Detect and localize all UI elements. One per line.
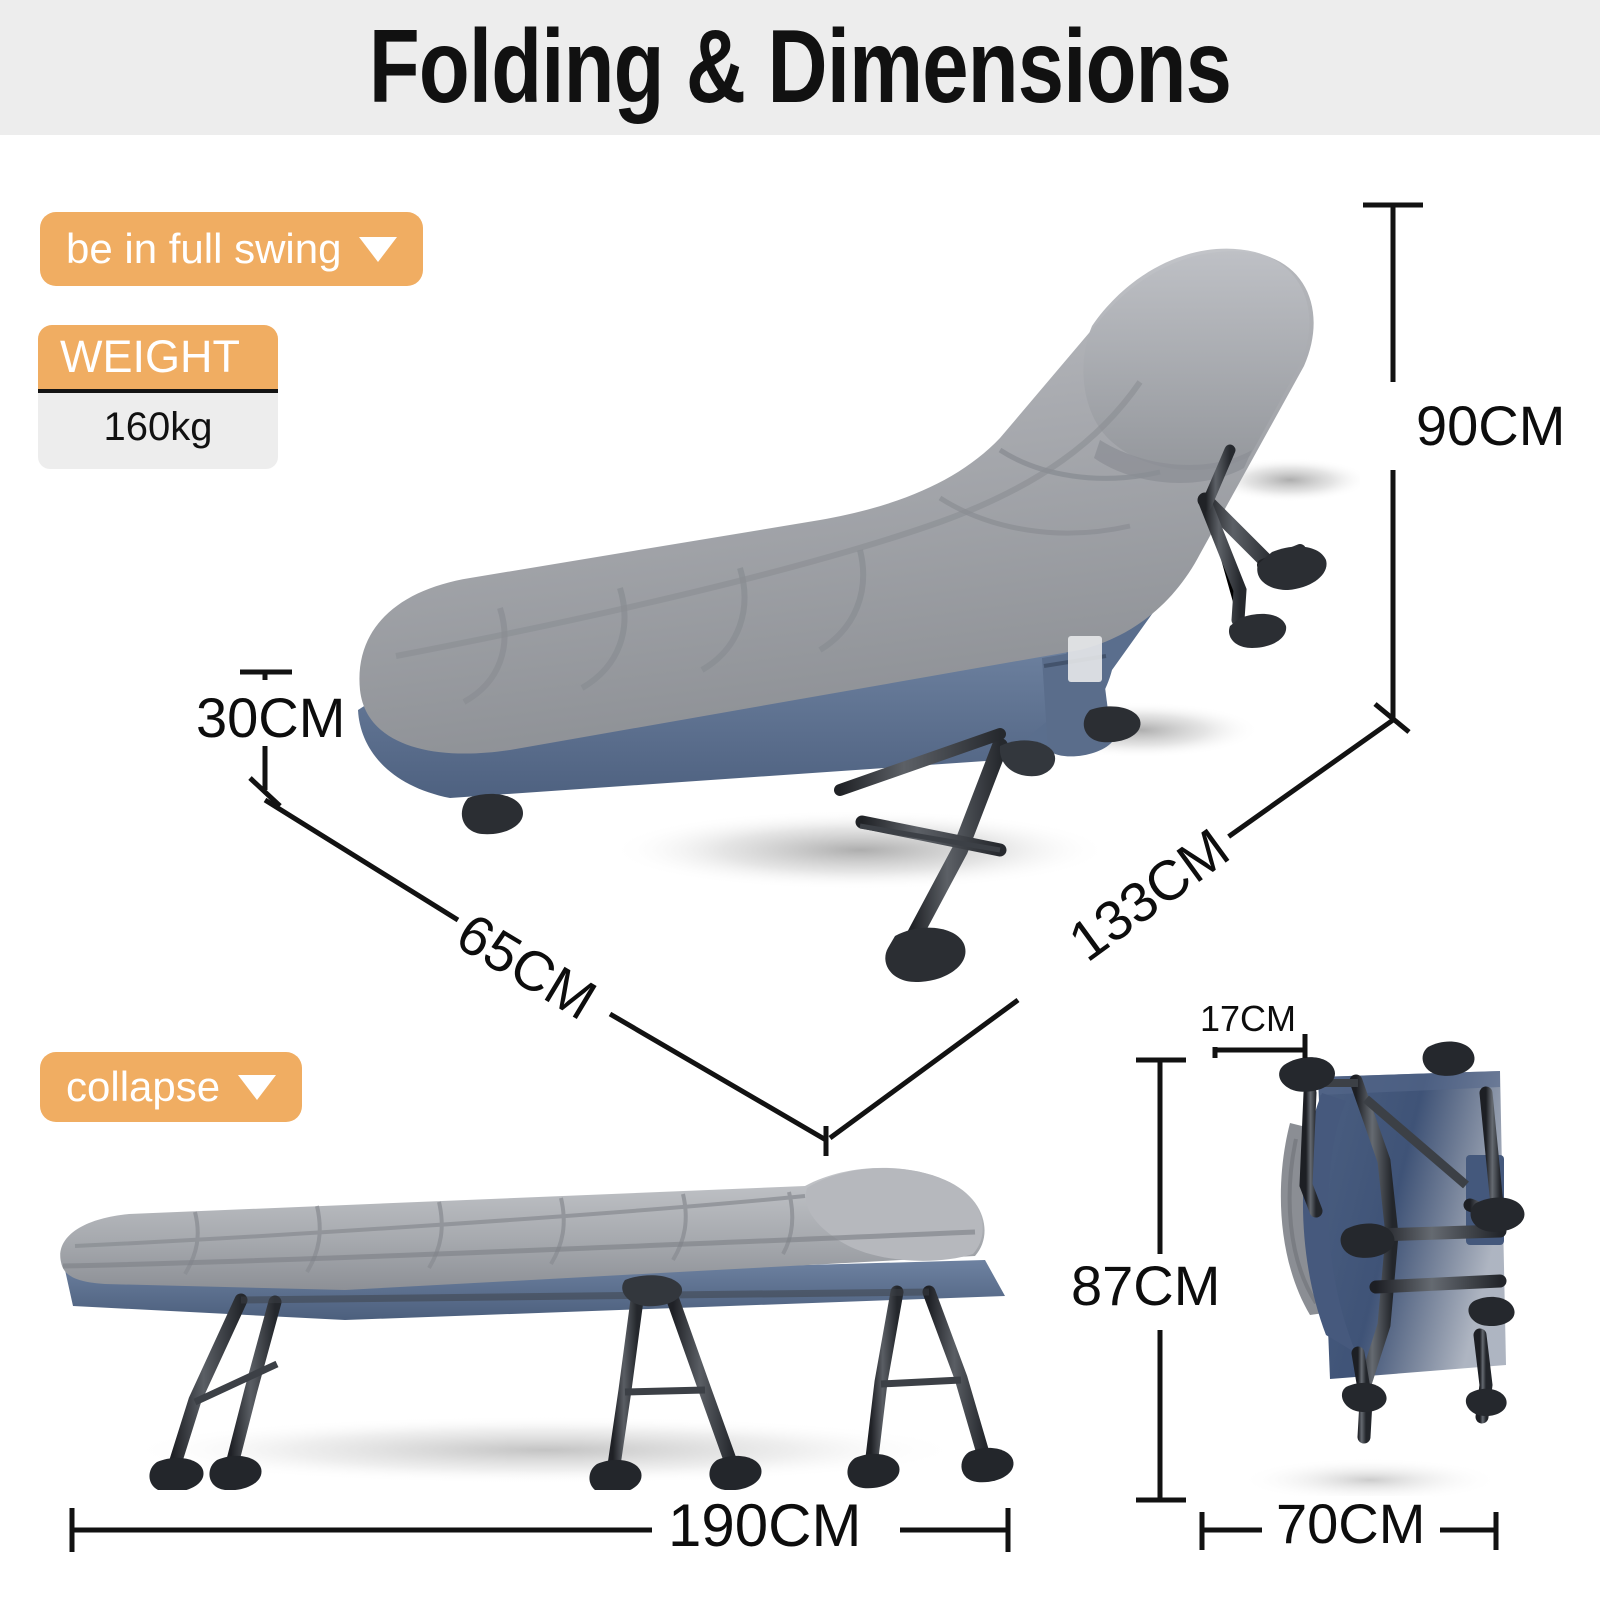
- weight-card: WEIGHT 160kg: [38, 325, 278, 469]
- weight-heading: WEIGHT: [38, 325, 278, 393]
- infographic-page: Folding & Dimensions: [0, 0, 1600, 1600]
- dimension-label-height-folded: 87CM: [1063, 1258, 1228, 1314]
- dimension-label-thickness: 30CM: [188, 690, 353, 746]
- badge-be-in-full-swing[interactable]: be in full swing: [40, 212, 423, 286]
- dimension-label-depth-folded: 17CM: [1196, 991, 1300, 1047]
- weight-value: 160kg: [38, 393, 278, 469]
- dimension-label-width-folded: 70CM: [1268, 1496, 1433, 1552]
- badge-collapse[interactable]: collapse: [40, 1052, 302, 1122]
- badge-swing-label: be in full swing: [66, 228, 341, 270]
- dimension-label-height-open: 90CM: [1408, 398, 1573, 454]
- caret-down-icon: [238, 1075, 276, 1100]
- badge-collapse-label: collapse: [66, 1066, 220, 1108]
- caret-down-icon: [359, 237, 397, 262]
- dimension-label-length-flat: 190CM: [660, 1498, 869, 1554]
